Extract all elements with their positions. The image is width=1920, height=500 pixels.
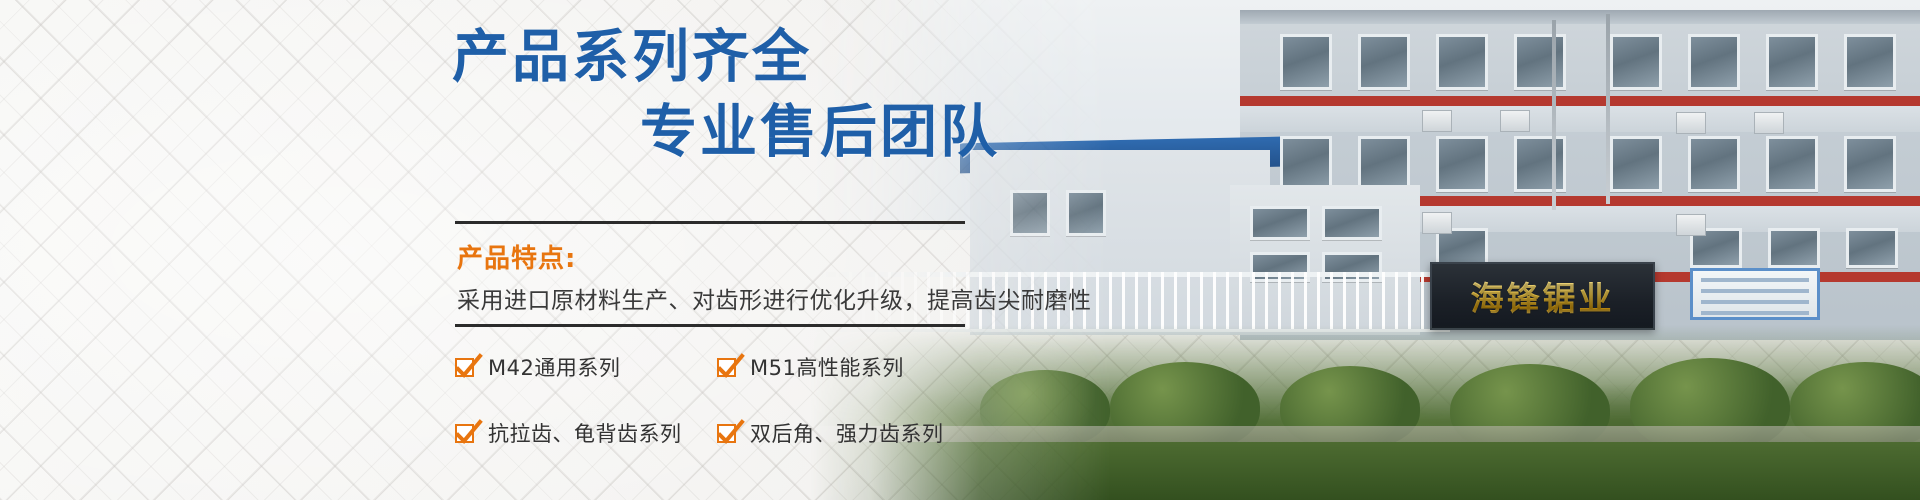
window xyxy=(1066,190,1106,236)
air-conditioner-unit xyxy=(1422,110,1452,132)
divider-bottom xyxy=(455,324,965,327)
air-conditioner-unit xyxy=(1500,110,1530,132)
window xyxy=(1010,190,1050,236)
window xyxy=(1846,228,1898,268)
building-red-band-1 xyxy=(1240,96,1920,106)
divider-top xyxy=(455,221,965,224)
air-conditioner-unit xyxy=(1676,112,1706,134)
company-sign: 海锋锯业 xyxy=(1430,262,1655,330)
window xyxy=(1436,136,1488,192)
checklist-item: M51高性能系列 xyxy=(717,352,985,382)
feature-description: 采用进口原材料生产、对齿形进行优化升级，提高齿尖耐磨性 xyxy=(457,281,1092,315)
building-gray-stripe-1 xyxy=(1240,106,1920,132)
headline-line-1: 产品系列齐全 xyxy=(452,28,812,88)
headline-line-2: 专业售后团队 xyxy=(640,103,1000,163)
check-icon xyxy=(455,424,474,443)
air-conditioner-unit xyxy=(1676,214,1706,236)
window xyxy=(1436,34,1488,90)
window xyxy=(1250,206,1310,240)
window xyxy=(1768,228,1820,268)
checklist-item-label: M51高性能系列 xyxy=(750,352,904,382)
window xyxy=(1688,34,1740,90)
air-conditioner-unit xyxy=(1754,112,1784,134)
promo-banner: 海锋锯业 产品系列齐全 专业售后团队 产品特点: 采用进口原材料生产、对齿形进行… xyxy=(0,0,1920,500)
building-roofline xyxy=(1240,10,1920,24)
window xyxy=(1514,136,1566,192)
checklist-item-label: 双后角、强力齿系列 xyxy=(750,418,944,448)
checklist-item: 双后角、强力齿系列 xyxy=(717,418,985,448)
window xyxy=(1844,34,1896,90)
window xyxy=(1280,136,1332,192)
notice-board xyxy=(1690,268,1820,320)
window xyxy=(1322,206,1382,240)
window xyxy=(1610,34,1662,90)
window xyxy=(1766,34,1818,90)
window xyxy=(1688,136,1740,192)
check-icon xyxy=(455,358,474,377)
window xyxy=(1358,34,1410,90)
checklist-item-label: 抗拉齿、龟背齿系列 xyxy=(488,418,682,448)
window xyxy=(1514,34,1566,90)
feature-title: 产品特点: xyxy=(457,238,576,275)
company-sign-text: 海锋锯业 xyxy=(1471,272,1615,320)
window xyxy=(1280,34,1332,90)
checklist-item-label: M42通用系列 xyxy=(488,352,620,382)
flag-pole xyxy=(1606,14,1610,204)
checklist-item: M42通用系列 xyxy=(455,352,717,382)
window xyxy=(1610,136,1662,192)
window xyxy=(1358,136,1410,192)
flag-pole xyxy=(1552,20,1556,210)
air-conditioner-unit xyxy=(1422,212,1452,234)
window xyxy=(1766,136,1818,192)
check-icon xyxy=(717,424,736,443)
product-series-checklist: M42通用系列 M51高性能系列 抗拉齿、龟背齿系列 双后角、强力齿系列 xyxy=(455,352,985,448)
checklist-item: 抗拉齿、龟背齿系列 xyxy=(455,418,717,448)
check-icon xyxy=(717,358,736,377)
window xyxy=(1844,136,1896,192)
banner-content: 产品系列齐全 专业售后团队 产品特点: 采用进口原材料生产、对齿形进行优化升级，… xyxy=(0,0,1010,500)
